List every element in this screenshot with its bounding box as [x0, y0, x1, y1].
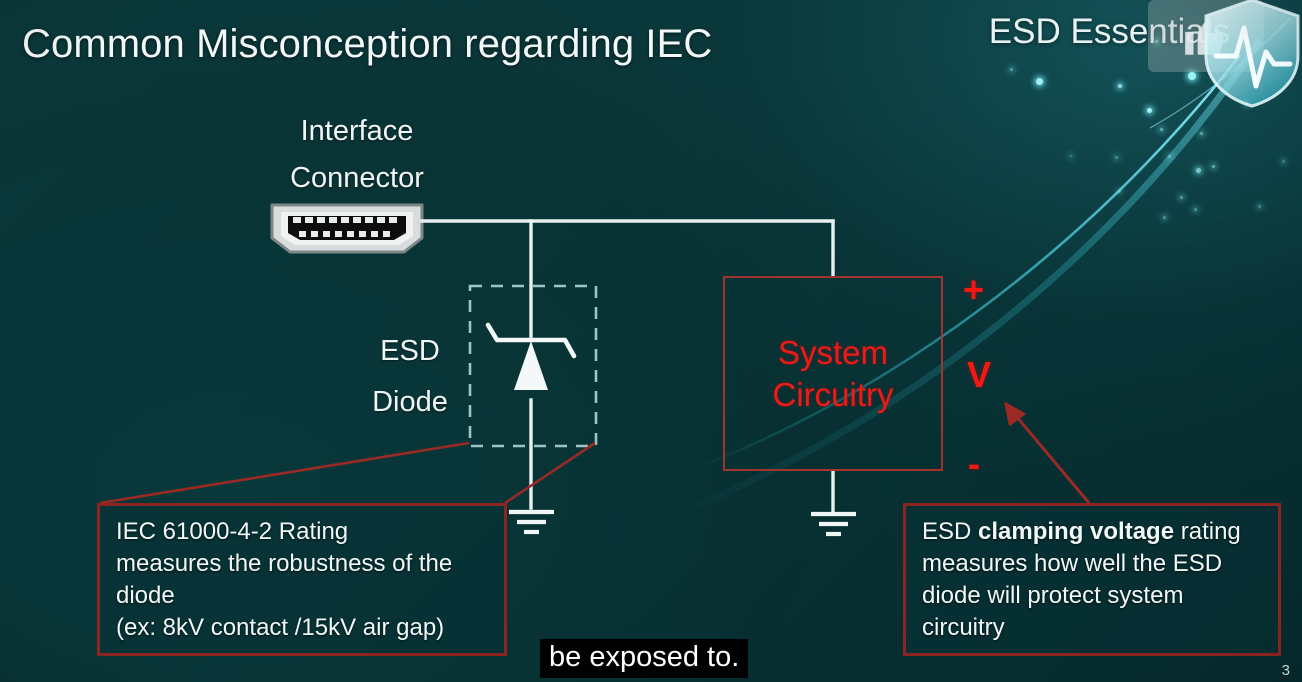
esd-diode-dashed-boundary	[470, 286, 596, 446]
shield-pulse-logo	[1198, 0, 1302, 112]
esd-label-line1: ESD	[380, 335, 440, 367]
callout-right-prefix: ESD	[922, 518, 978, 545]
page-number: 3	[1282, 662, 1290, 679]
esd-diode-label: ESD Diode	[340, 326, 480, 428]
slide-canvas: Common Misconception regarding IEC ESD E…	[0, 0, 1302, 682]
hdmi-connector-icon	[272, 205, 422, 252]
system-circuitry-line1: System	[778, 334, 888, 371]
ground-symbol-right	[811, 514, 856, 534]
ground-symbol-left	[509, 512, 554, 532]
connector-label-line1: Interface	[301, 115, 414, 147]
callout-left-line3: diode	[116, 580, 490, 612]
callout-iec-rating: IEC 61000-4-2 Rating measures the robust…	[97, 503, 507, 656]
video-caption: be exposed to.	[540, 639, 748, 678]
polarity-plus-label: +	[963, 272, 984, 308]
voltage-label: V	[967, 357, 991, 393]
interface-connector-label: Interface Connector	[252, 108, 462, 202]
callout-left-line1: IEC 61000-4-2 Rating	[116, 516, 490, 548]
callout-clamping-voltage: ESD clamping voltage rating measures how…	[903, 503, 1281, 656]
system-circuitry-box: System Circuitry	[723, 276, 943, 471]
right-callout-arrowhead	[1004, 402, 1026, 426]
left-callout-leader	[100, 443, 595, 503]
polarity-minus-label: -	[968, 446, 980, 482]
connector-label-line2: Connector	[290, 162, 424, 194]
page-title: Common Misconception regarding IEC	[22, 22, 712, 67]
callout-right-bold: clamping voltage	[978, 518, 1174, 545]
callout-left-line2: measures the robustness of the	[116, 548, 490, 580]
right-callout-arrow	[1006, 404, 1089, 503]
esd-label-line2: Diode	[372, 386, 448, 418]
zener-tvs-diode-icon	[488, 325, 574, 390]
system-circuitry-line2: Circuitry	[773, 376, 894, 413]
callout-left-line4: (ex: 8kV contact /15kV air gap)	[116, 612, 490, 644]
